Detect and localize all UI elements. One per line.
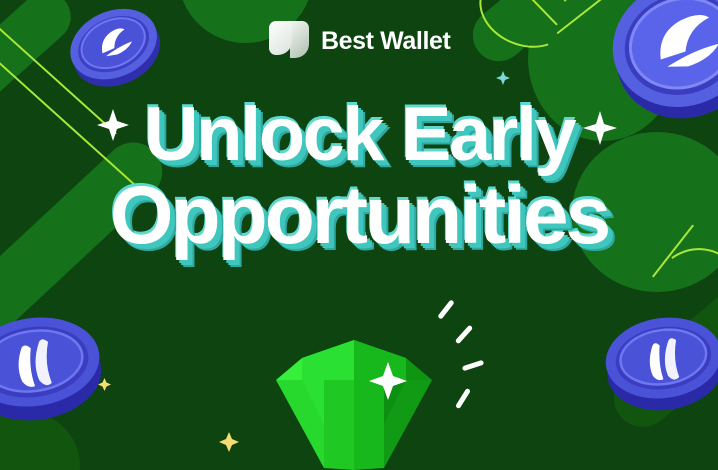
best-wallet-leaf-logo-icon [268,18,310,64]
coin-top-left [56,0,172,94]
headline-line-1: Unlock Early [0,98,718,172]
promo-banner: Best Wallet Unlock Early Opportunities [0,0,718,470]
headline-line-2: Opportunities [0,176,718,256]
coin-bottom-right [594,302,718,422]
sparkle-teal-dot [496,71,510,90]
bg-line-topright [452,0,558,26]
coin-bottom-left [0,298,110,430]
brand-logo: Best Wallet [268,18,450,64]
motion-dash-2 [455,325,473,345]
motion-dash-1 [437,299,454,319]
motion-dash-4 [455,388,471,409]
headline: Unlock Early Opportunities [0,98,718,257]
bg-loop-curl [468,0,582,61]
brand-name: Best Wallet [321,29,450,54]
green-gem-icon [262,318,446,470]
sparkle-yellow-diamond [219,432,239,457]
motion-dash-3 [462,360,484,372]
